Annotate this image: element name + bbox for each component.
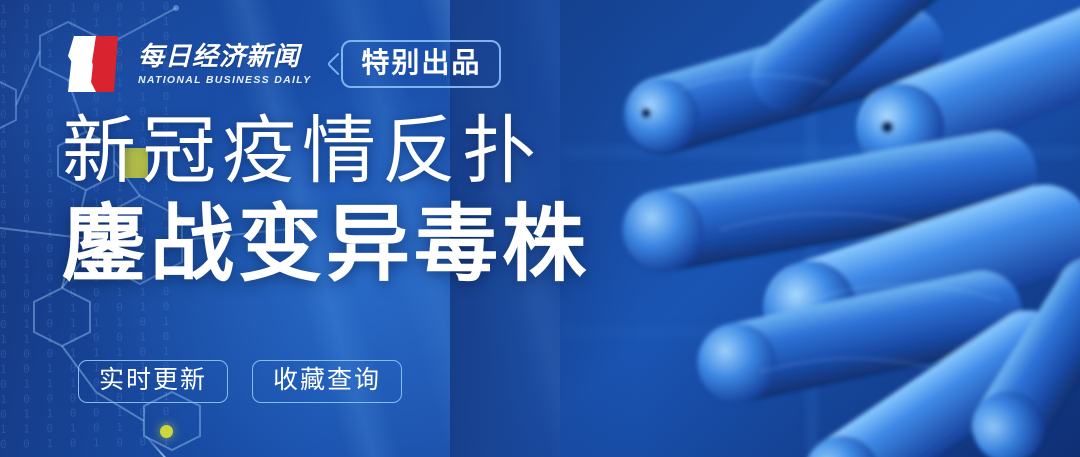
realtime-update-button[interactable]: 实时更新: [78, 360, 228, 403]
brand-name-en: NATIONAL BUSINESS DAILY: [138, 74, 311, 86]
brand-name-cn: 每日经济新闻: [138, 42, 311, 70]
special-edition-badge: 特别出品: [341, 40, 501, 88]
headline-block: 新冠疫情反扑 鏖战变异毒株: [62, 112, 590, 289]
headline-line-2: 鏖战变异毒株: [62, 200, 590, 289]
headline-line-1-wrap: 新冠疫情反扑: [62, 112, 590, 190]
special-edition-badge-wrap: 特别出品: [341, 40, 501, 88]
action-button-row: 实时更新 收藏查询: [78, 360, 402, 403]
covid-banner: 1 0 1 1 0 0 1 0 0 1 0 0 1 1 0 1 1 1 0 1 …: [0, 0, 1080, 457]
nbd-logo-mark-icon: [62, 28, 128, 100]
brand-name-block: 每日经济新闻 NATIONAL BUSINESS DAILY: [138, 42, 311, 86]
brand-header: 每日经济新闻 NATIONAL BUSINESS DAILY 特别出品: [62, 28, 501, 100]
headline-line-1: 新冠疫情反扑: [62, 109, 542, 192]
bookmark-query-button[interactable]: 收藏查询: [252, 360, 402, 403]
accent-dot: [160, 425, 173, 438]
